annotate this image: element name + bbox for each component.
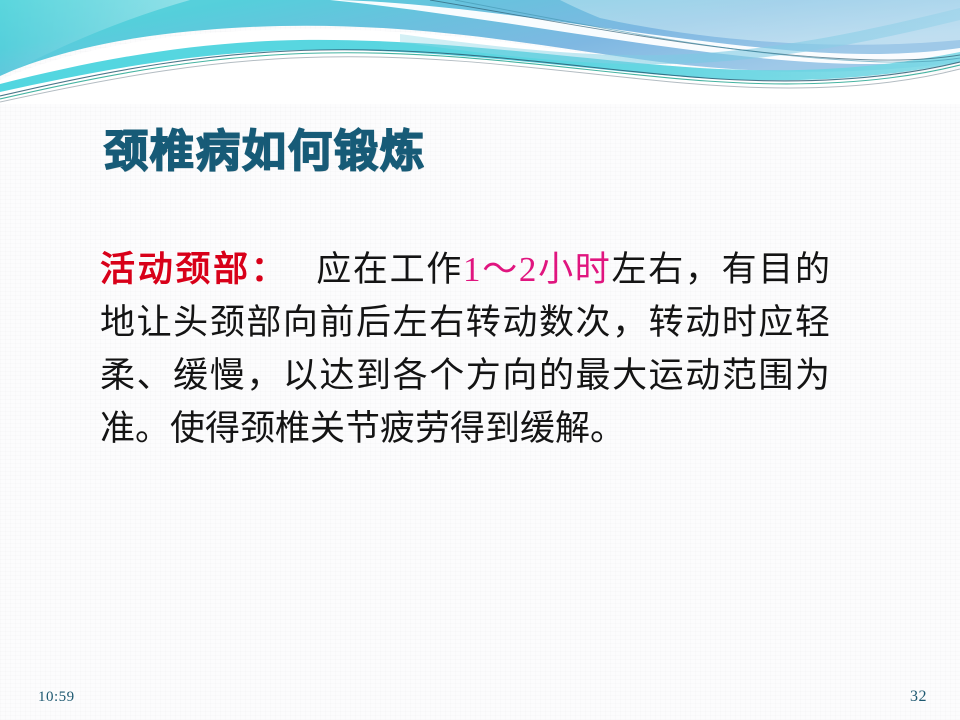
body-lead-label: 活动颈部：: [100, 250, 289, 289]
body-segment-accent: 1～2小时: [463, 250, 612, 289]
presentation-slide: 颈椎病如何锻炼 活动颈部：应在工作1～2小时左右，有目的地让头颈部向前后左右转动…: [0, 0, 960, 720]
body-paragraph: 活动颈部：应在工作1～2小时左右，有目的地让头颈部向前后左右转动数次，转动时应轻…: [100, 243, 830, 455]
page-title: 颈椎病如何锻炼: [104, 130, 426, 174]
body-segment-1: 应在工作: [315, 250, 464, 289]
footer-timestamp: 10:59: [38, 689, 75, 706]
decorative-wave-banner: [0, 0, 960, 104]
footer-page-number: 32: [910, 688, 927, 706]
